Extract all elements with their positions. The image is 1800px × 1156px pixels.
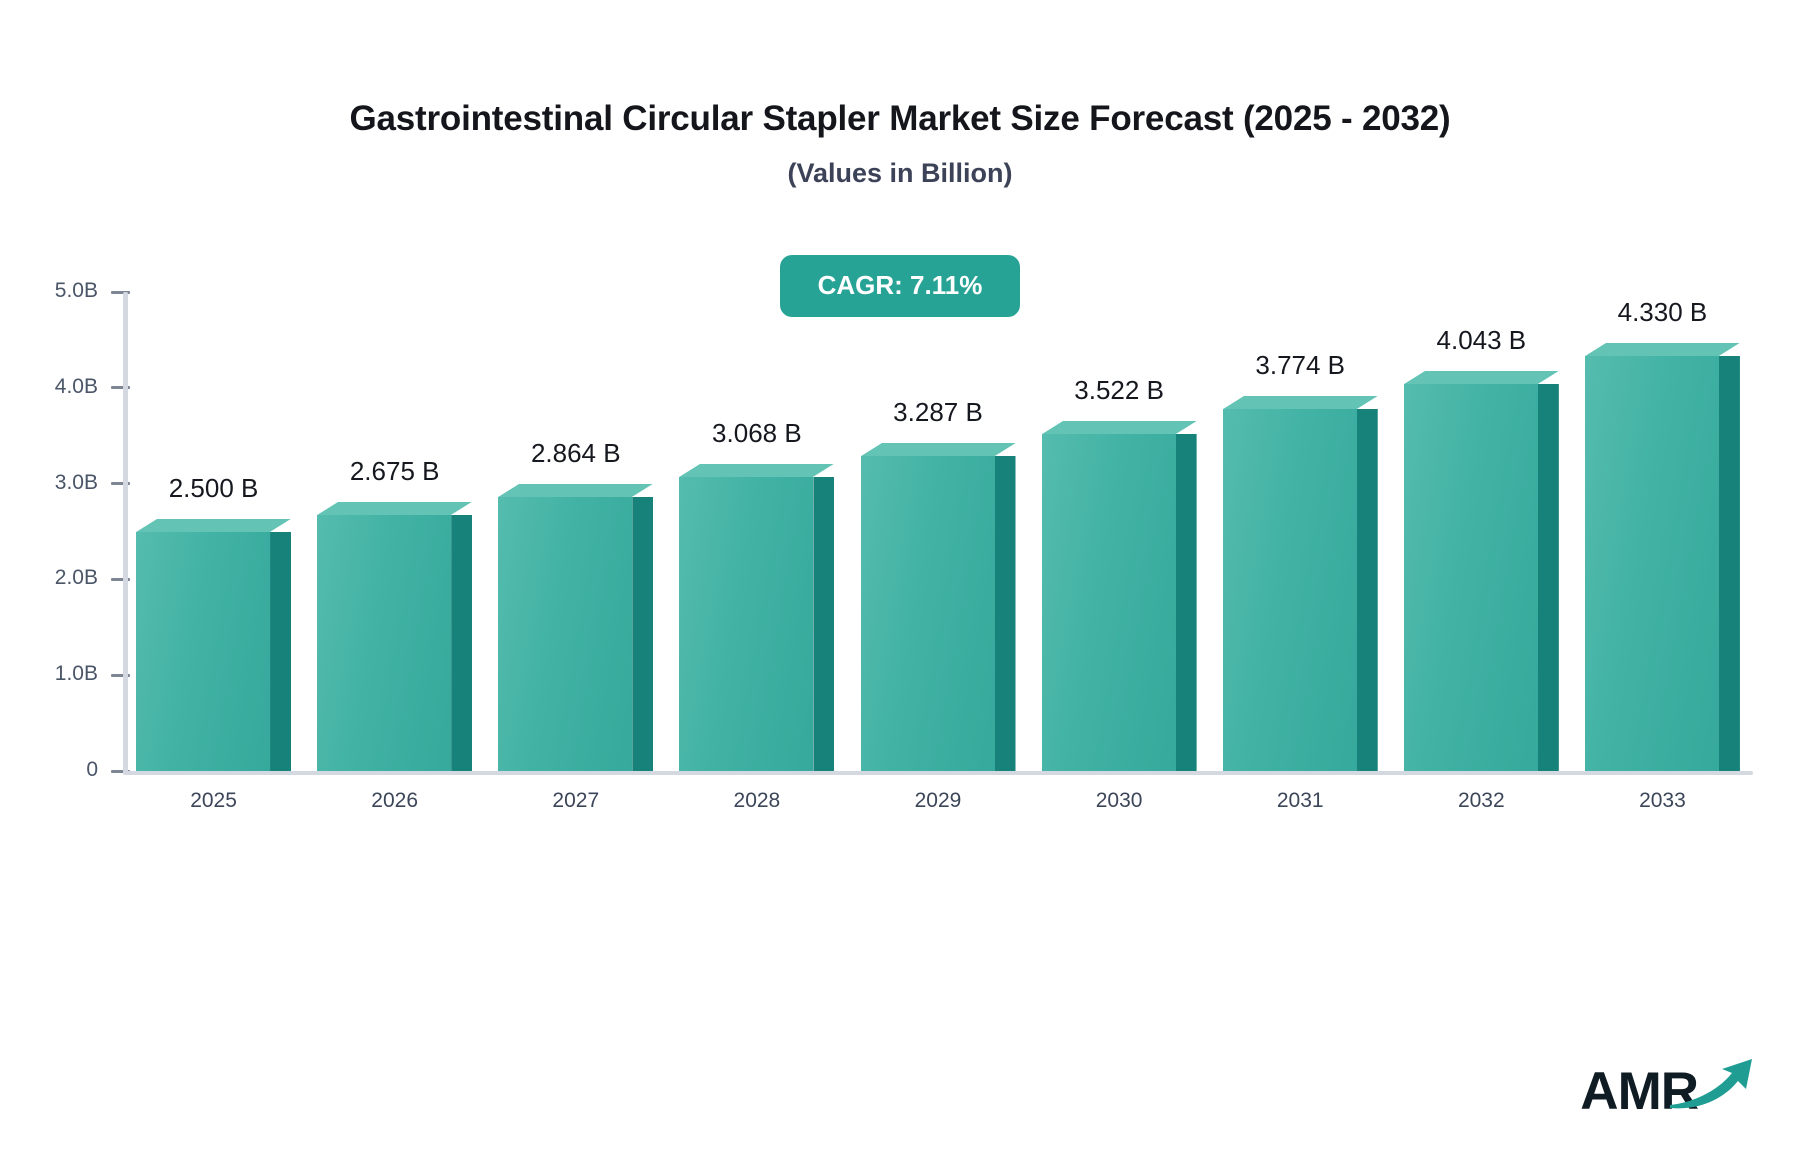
bar[interactable] (1042, 434, 1176, 771)
bar-top-face (498, 484, 653, 497)
bar-front-face (1042, 434, 1176, 771)
x-axis-tick-label: 2032 (1391, 789, 1572, 813)
growth-arrow-icon (1668, 1055, 1756, 1116)
bar-value-label: 3.522 B (1074, 375, 1164, 406)
chart-page: Gastrointestinal Circular Stapler Market… (0, 0, 1800, 1156)
bar-side-face (1538, 384, 1559, 771)
x-axis-tick-label: 2026 (304, 789, 485, 813)
bar-front-face (498, 497, 632, 771)
y-axis-tick-label: 3.0B (55, 471, 98, 495)
bar-side-face (1357, 409, 1378, 771)
bar-top-face (1223, 396, 1378, 409)
amr-logo: AMR (1580, 1048, 1756, 1118)
bar[interactable] (1404, 384, 1538, 771)
bar-value-label: 4.043 B (1437, 325, 1527, 356)
bar-side-face (451, 515, 472, 771)
bar-front-face (1585, 356, 1719, 771)
bar-slot: 3.068 B (679, 292, 834, 771)
bar-side-face (1719, 356, 1740, 771)
bar-front-face (1404, 384, 1538, 771)
bar-top-face (861, 443, 1016, 456)
y-axis-tick-label: 2.0B (55, 566, 98, 590)
bar-value-label: 2.864 B (531, 438, 621, 469)
bar-top-face (679, 464, 834, 477)
bar[interactable] (1223, 409, 1357, 771)
bar-value-label: 2.675 B (350, 456, 440, 487)
chart-plot-area: 01.0B2.0B3.0B4.0B5.0B 2.500 B2.675 B2.86… (0, 0, 1800, 1156)
bar-slot: 3.287 B (861, 292, 1016, 771)
y-axis-tick-label: 0 (86, 758, 98, 782)
bar[interactable] (679, 477, 813, 771)
bar-side-face (632, 497, 653, 771)
bar-slot: 4.330 B (1585, 292, 1740, 771)
bar-side-face (995, 456, 1016, 771)
bar[interactable] (317, 515, 451, 771)
bar-slot: 2.864 B (498, 292, 653, 771)
bar-top-face (1585, 343, 1740, 356)
y-axis-tick-label: 1.0B (55, 662, 98, 686)
x-axis-tick-label: 2028 (666, 789, 847, 813)
bar-front-face (679, 477, 813, 771)
bar-top-face (136, 519, 291, 532)
x-axis-tick-label: 2031 (1210, 789, 1391, 813)
bar-series: 2.500 B2.675 B2.864 B3.068 B3.287 B3.522… (123, 292, 1753, 771)
bar-front-face (861, 456, 995, 771)
y-axis-tick-labels: 01.0B2.0B3.0B4.0B5.0B (0, 0, 130, 1156)
bar-front-face (1223, 409, 1357, 771)
x-axis-tick-label: 2029 (847, 789, 1028, 813)
y-axis-tick-label: 5.0B (55, 279, 98, 303)
bar-value-label: 2.500 B (169, 473, 259, 504)
bar-top-face (317, 502, 472, 515)
x-axis-tick-label: 2027 (485, 789, 666, 813)
bar-front-face (136, 532, 270, 772)
bar[interactable] (136, 532, 270, 772)
bar-side-face (270, 532, 291, 772)
bar-slot: 3.522 B (1042, 292, 1197, 771)
bar-value-label: 4.330 B (1618, 297, 1708, 328)
bar-value-label: 3.068 B (712, 418, 802, 449)
x-axis-line (123, 771, 1753, 775)
bar-slot: 2.675 B (317, 292, 472, 771)
bar[interactable] (498, 497, 632, 771)
bar-slot: 3.774 B (1223, 292, 1378, 771)
bar-front-face (317, 515, 451, 771)
bar-side-face (1176, 434, 1197, 771)
bar-side-face (813, 477, 834, 771)
bar-top-face (1404, 371, 1559, 384)
bar-slot: 4.043 B (1404, 292, 1559, 771)
y-axis-tick-label: 4.0B (55, 375, 98, 399)
bar-value-label: 3.774 B (1255, 350, 1345, 381)
x-axis-tick-label: 2025 (123, 789, 304, 813)
bar-value-label: 3.287 B (893, 397, 983, 428)
bar[interactable] (1585, 356, 1719, 771)
bar-slot: 2.500 B (136, 292, 291, 771)
x-axis-tick-label: 2030 (1029, 789, 1210, 813)
bar[interactable] (861, 456, 995, 771)
bar-top-face (1042, 421, 1197, 434)
x-axis-tick-label: 2033 (1572, 789, 1753, 813)
